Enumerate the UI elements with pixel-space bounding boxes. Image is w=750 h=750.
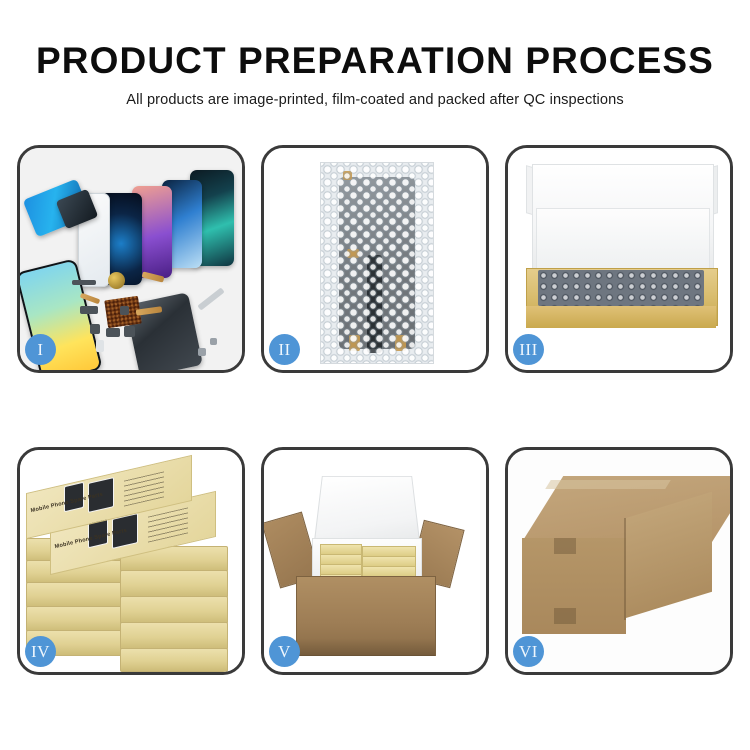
tweezers-tool	[197, 287, 224, 310]
step-badge-5: V	[269, 636, 300, 667]
kraft-box-stack-r4	[120, 622, 228, 650]
stacked-boxes-photo: Mobile Phone Spare Parts Mobile Phone Sp…	[20, 450, 242, 672]
part-bracket-3	[90, 324, 100, 334]
kraft-box-stack-r5	[120, 648, 228, 672]
outer-carton-body	[296, 576, 436, 656]
foam-sheet	[536, 208, 710, 272]
inner-box-packing-photo	[508, 148, 730, 370]
process-step-grid: I II III	[17, 145, 733, 675]
carton-loading-photo	[264, 450, 486, 672]
page-header: PRODUCT PREPARATION PROCESS All products…	[0, 0, 750, 108]
step-panel-5[interactable]: V	[261, 447, 489, 675]
step-badge-2: II	[269, 334, 300, 365]
kraft-box-stack-r2	[120, 570, 228, 598]
part-bracket-5	[124, 326, 135, 337]
step-badge-3: III	[513, 334, 544, 365]
bubble-wrap-bag	[320, 162, 434, 364]
step-badge-1: I	[25, 334, 56, 365]
carton-corner-edge	[624, 518, 626, 620]
bubble-wrapped-screen-photo	[264, 148, 486, 370]
step-panel-1[interactable]: I	[17, 145, 245, 373]
kraft-box-stack-r3	[120, 596, 228, 624]
carton-seal-tape	[545, 480, 671, 489]
foam-lid-open	[313, 476, 420, 546]
page-subtitle: All products are image-printed, film-coa…	[0, 81, 750, 108]
step-badge-4: IV	[25, 636, 56, 667]
part-bracket-1	[72, 280, 96, 285]
step-panel-4[interactable]: Mobile Phone Spare Parts Mobile Phone Sp…	[17, 447, 245, 675]
sealed-carton-photo	[508, 450, 730, 672]
part-bracket-4	[106, 328, 120, 337]
page-title: PRODUCT PREPARATION PROCESS	[0, 0, 750, 81]
carton-flap-seam-top	[554, 538, 576, 554]
step-panel-6[interactable]: VI	[505, 447, 733, 675]
bubble-texture	[321, 163, 433, 363]
bubble-wrapped-contents	[538, 270, 704, 306]
step-badge-6: VI	[513, 636, 544, 667]
product-parts-photo	[20, 148, 242, 370]
part-sim-tray	[96, 340, 104, 352]
kraft-box-front-wall	[526, 306, 716, 328]
step-panel-2[interactable]: II	[261, 145, 489, 373]
carton-flap-seam-bottom	[554, 608, 576, 624]
part-bracket-6	[120, 306, 129, 315]
speaker-module-icon	[108, 272, 125, 289]
part-bracket-2	[80, 306, 98, 314]
part-screw-2	[210, 338, 217, 345]
part-screw-1	[198, 348, 206, 356]
step-panel-3[interactable]: III	[505, 145, 733, 373]
